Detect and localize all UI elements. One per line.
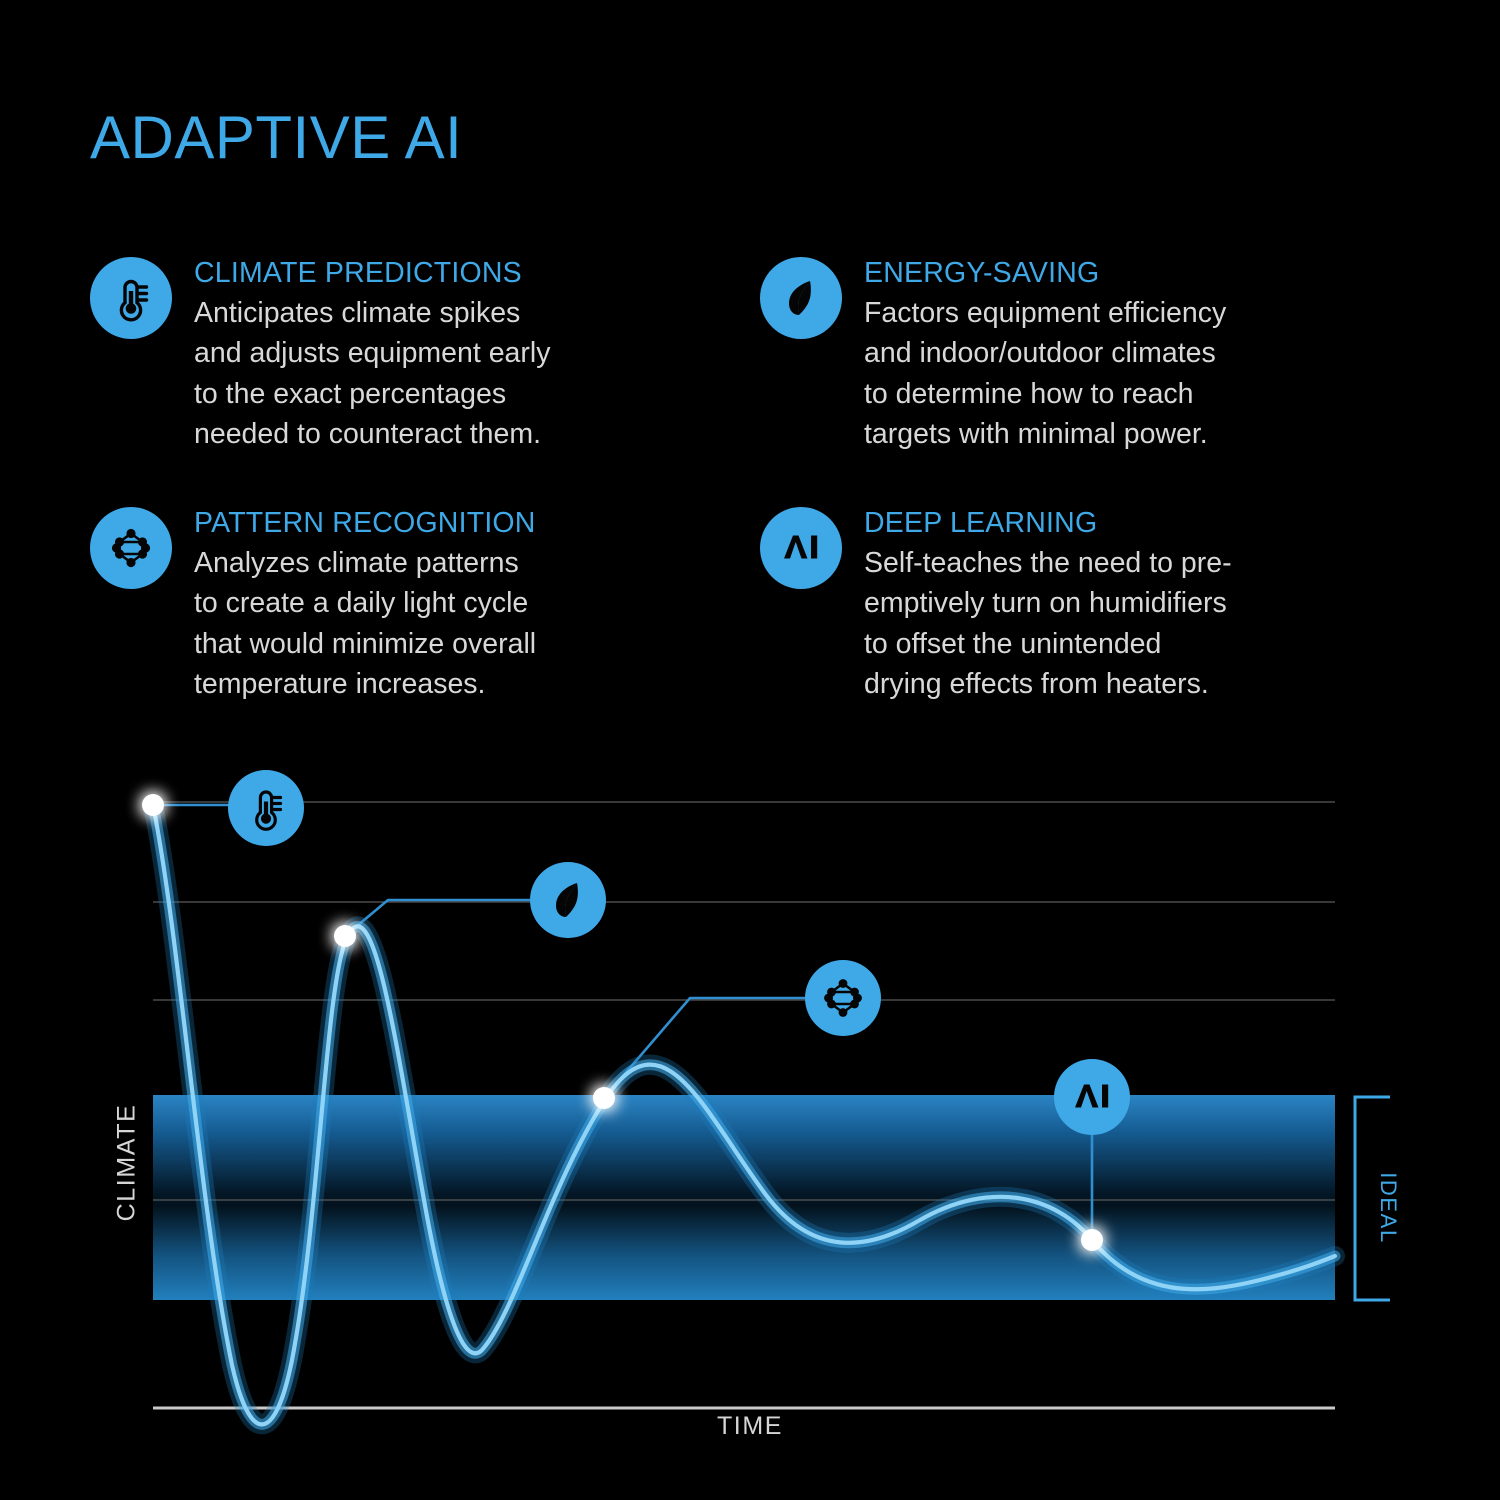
thermometer-icon (90, 257, 172, 339)
feature-text: PATTERN RECOGNITION Analyzes climate pat… (194, 505, 760, 705)
ideal-band-label: IDEAL (1375, 1172, 1401, 1244)
feature-description: Analyzes climate patterns to create a da… (194, 543, 760, 705)
chart-svg (0, 740, 1500, 1500)
feature-text: DEEP LEARNING Self-teaches the need to p… (864, 505, 1410, 705)
data-point-deep-learning[interactable] (1081, 1229, 1103, 1251)
feature-climate-predictions: CLIMATE PREDICTIONS Anticipates climate … (90, 255, 760, 505)
x-axis-label: TIME (0, 1412, 1500, 1441)
connector-network (604, 998, 805, 1098)
feature-title: PATTERN RECOGNITION (194, 507, 760, 540)
feature-grid: CLIMATE PREDICTIONS Anticipates climate … (90, 255, 1410, 755)
feature-deep-learning: DEEP LEARNING Self-teaches the need to p… (760, 505, 1410, 755)
chart-marker-leaf[interactable] (530, 862, 606, 938)
ai-logo-icon (760, 507, 842, 589)
leaf-icon (760, 257, 842, 339)
feature-text: ENERGY-SAVING Factors equipment efficien… (864, 255, 1410, 455)
climate-chart (0, 740, 1500, 1500)
feature-description: Factors equipment efficiency and indoor/… (864, 293, 1410, 455)
feature-title: ENERGY-SAVING (864, 257, 1410, 290)
chart-marker-network[interactable] (805, 960, 881, 1036)
y-axis-label: CLIMATE (112, 1104, 141, 1222)
feature-text: CLIMATE PREDICTIONS Anticipates climate … (194, 255, 760, 455)
chart-marker-ai[interactable] (1054, 1059, 1130, 1135)
feature-description: Anticipates climate spikes and adjusts e… (194, 293, 760, 455)
feature-description: Self-teaches the need to pre- emptively … (864, 543, 1410, 705)
data-point-energy-saving[interactable] (334, 925, 356, 947)
feature-title: CLIMATE PREDICTIONS (194, 257, 760, 290)
data-point-climate-predictions[interactable] (142, 794, 164, 816)
feature-pattern-recognition: PATTERN RECOGNITION Analyzes climate pat… (90, 505, 760, 755)
chart-marker-thermometer[interactable] (228, 770, 304, 846)
network-nodes-icon (90, 507, 172, 589)
page-title: ADAPTIVE AI (90, 108, 462, 168)
feature-energy-saving: ENERGY-SAVING Factors equipment efficien… (760, 255, 1410, 505)
infographic-root: ADAPTIVE AI CLIMATE PREDICTIONS (0, 0, 1500, 1500)
data-point-pattern-recognition[interactable] (593, 1087, 615, 1109)
feature-title: DEEP LEARNING (864, 507, 1410, 540)
